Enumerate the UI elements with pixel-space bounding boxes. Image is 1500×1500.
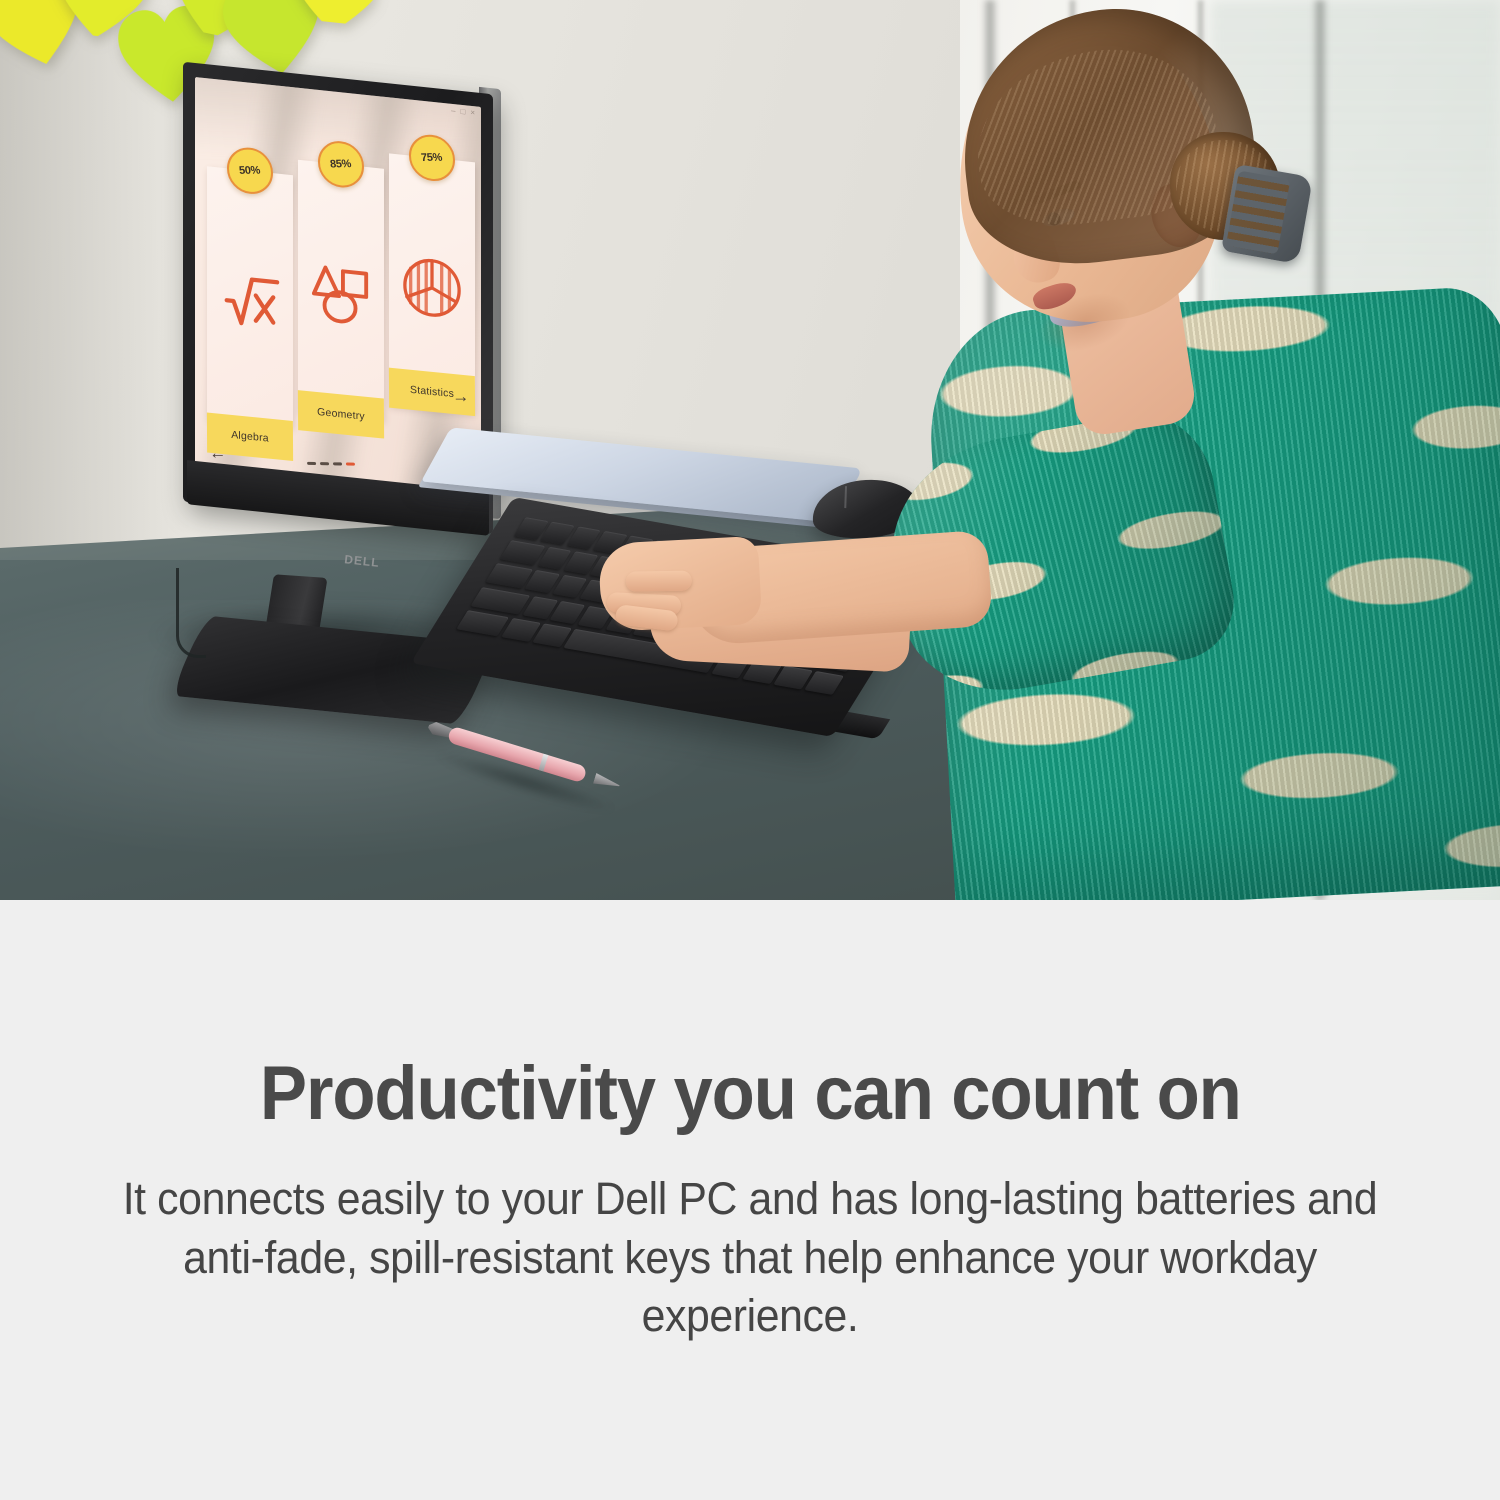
progress-badge-algebra: 50% <box>227 145 273 196</box>
subject-card-geometry[interactable]: 85% Geometry <box>298 160 384 421</box>
subject-card-list: 50% Algebra 85% <box>207 134 475 462</box>
dell-logo-monitor: DELL <box>338 551 385 572</box>
maximize-icon[interactable]: □ <box>460 108 465 117</box>
copy-panel: Productivity you can count on It connect… <box>0 900 1500 1500</box>
subject-label-geometry: Geometry <box>298 390 384 438</box>
square-root-icon <box>207 244 293 357</box>
progress-percent-label: 50% <box>239 165 261 177</box>
minimize-icon[interactable]: – <box>451 107 455 115</box>
body-copy: It connects easily to your Dell PC and h… <box>104 1170 1396 1346</box>
pie-chart-icon <box>389 231 475 344</box>
back-arrow-icon[interactable]: ← <box>208 443 227 463</box>
geometry-shapes-icon <box>298 238 384 351</box>
page-title: Productivity you can count on <box>260 1054 1241 1134</box>
hair-claw-clip <box>1221 164 1313 264</box>
progress-percent-label: 75% <box>421 152 443 164</box>
lifestyle-photo: – □ × 50% <box>0 0 1500 900</box>
subject-card-algebra[interactable]: 50% Algebra <box>207 166 293 427</box>
finger <box>626 571 692 592</box>
forward-arrow-icon[interactable]: → <box>451 387 470 407</box>
progress-percent-label: 85% <box>330 158 352 170</box>
close-icon[interactable]: × <box>470 109 475 117</box>
mouse-button-split <box>844 486 846 508</box>
person-using-keyboard <box>900 0 1500 900</box>
monitor-cable <box>176 568 206 658</box>
typing-hand <box>598 536 762 632</box>
subject-card-statistics[interactable]: 75% Statistics <box>389 153 475 414</box>
product-feature-image: – □ × 50% <box>0 0 1500 1500</box>
